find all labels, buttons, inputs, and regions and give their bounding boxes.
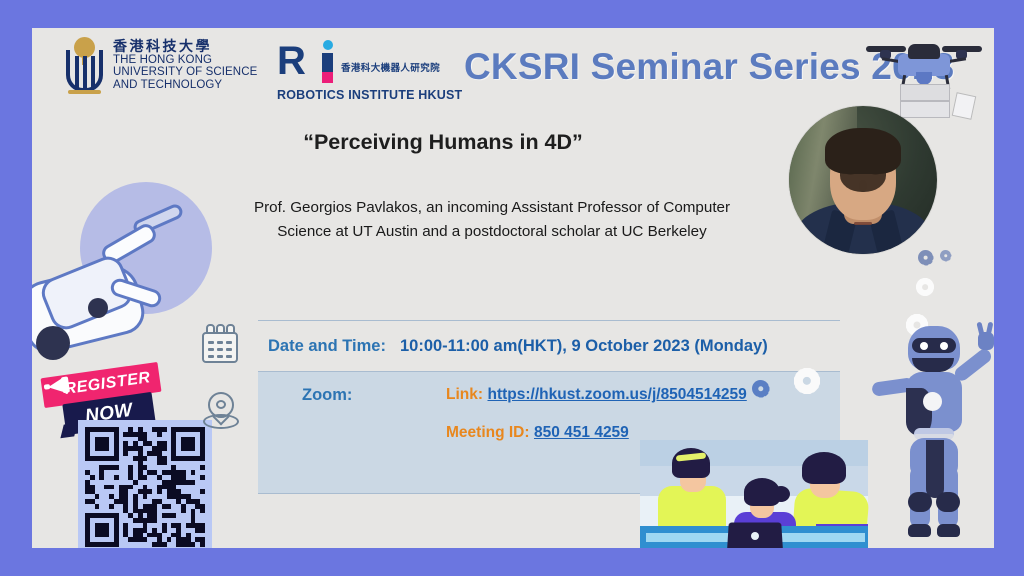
- ri-english-name: ROBOTICS INSTITUTE HKUST: [277, 88, 462, 102]
- people-at-laptop-illustration: [640, 440, 868, 548]
- link-label: Link:: [446, 386, 483, 403]
- gear-icon: [752, 380, 769, 397]
- location-pin-icon: [202, 392, 240, 434]
- humanoid-robot-illustration: [868, 316, 994, 548]
- hkust-name-line2: UNIVERSITY OF SCIENCE: [113, 66, 257, 78]
- ri-letter-r: R: [277, 42, 306, 80]
- ri-letter-i: [322, 53, 333, 72]
- speaker-bio-line1: Prof. Georgios Pavlakos, an incoming Ass…: [182, 196, 802, 220]
- speaker-portrait: [789, 106, 937, 254]
- speaker-bio: Prof. Georgios Pavlakos, an incoming Ass…: [182, 196, 802, 243]
- talk-title: “Perceiving Humans in 4D”: [32, 130, 994, 155]
- zoom-link-value[interactable]: https://hkust.zoom.us/j/8504514259: [487, 386, 746, 403]
- ri-magenta-square-icon: [322, 72, 333, 83]
- robotics-institute-logo: R 香港科大機器人研究院 ROBOTICS INSTITUTE HKUST: [277, 40, 440, 86]
- ri-emblem-icon: R: [277, 40, 337, 86]
- hkust-logo: 香港科技大學 THE HONG KONG UNIVERSITY OF SCIEN…: [62, 36, 257, 94]
- poster-background: 香港科技大學 THE HONG KONG UNIVERSITY OF SCIEN…: [0, 0, 1024, 576]
- qr-modules: [85, 427, 205, 547]
- megaphone-icon: [43, 374, 72, 397]
- calendar-icon: [200, 324, 240, 364]
- date-and-time-row: Date and Time: 10:00-11:00 am(HKT), 9 Oc…: [258, 320, 840, 372]
- gear-icon: [940, 250, 951, 261]
- hkust-chinese-name: 香港科技大學: [113, 39, 257, 54]
- meeting-id-label: Meeting ID:: [446, 424, 530, 441]
- meeting-id-line: Meeting ID: 850 451 4259: [446, 424, 629, 442]
- hkust-emblem-icon: [62, 36, 106, 94]
- poster-canvas: 香港科技大學 THE HONG KONG UNIVERSITY OF SCIEN…: [32, 28, 994, 548]
- ri-chinese-name: 香港科大機器人研究院: [341, 60, 440, 74]
- ri-cyan-dot-icon: [323, 40, 333, 50]
- hkust-name-line1: THE HONG KONG: [113, 54, 257, 66]
- meeting-id-value[interactable]: 850 451 4259: [534, 424, 629, 441]
- registration-qr-code[interactable]: [78, 420, 212, 548]
- date-value: 10:00-11:00 am(HKT), 9 October 2023 (Mon…: [400, 337, 768, 356]
- gear-icon: [916, 278, 934, 296]
- gear-icon: [918, 250, 933, 265]
- date-label: Date and Time:: [268, 337, 386, 356]
- hkust-name-line3: AND TECHNOLOGY: [113, 79, 257, 91]
- gear-icon: [794, 368, 820, 394]
- zoom-link-line: Link: https://hkust.zoom.us/j/8504514259: [446, 386, 747, 404]
- speaker-bio-line2: Science at UT Austin and a postdoctoral …: [182, 220, 802, 244]
- zoom-label: Zoom:: [302, 386, 352, 405]
